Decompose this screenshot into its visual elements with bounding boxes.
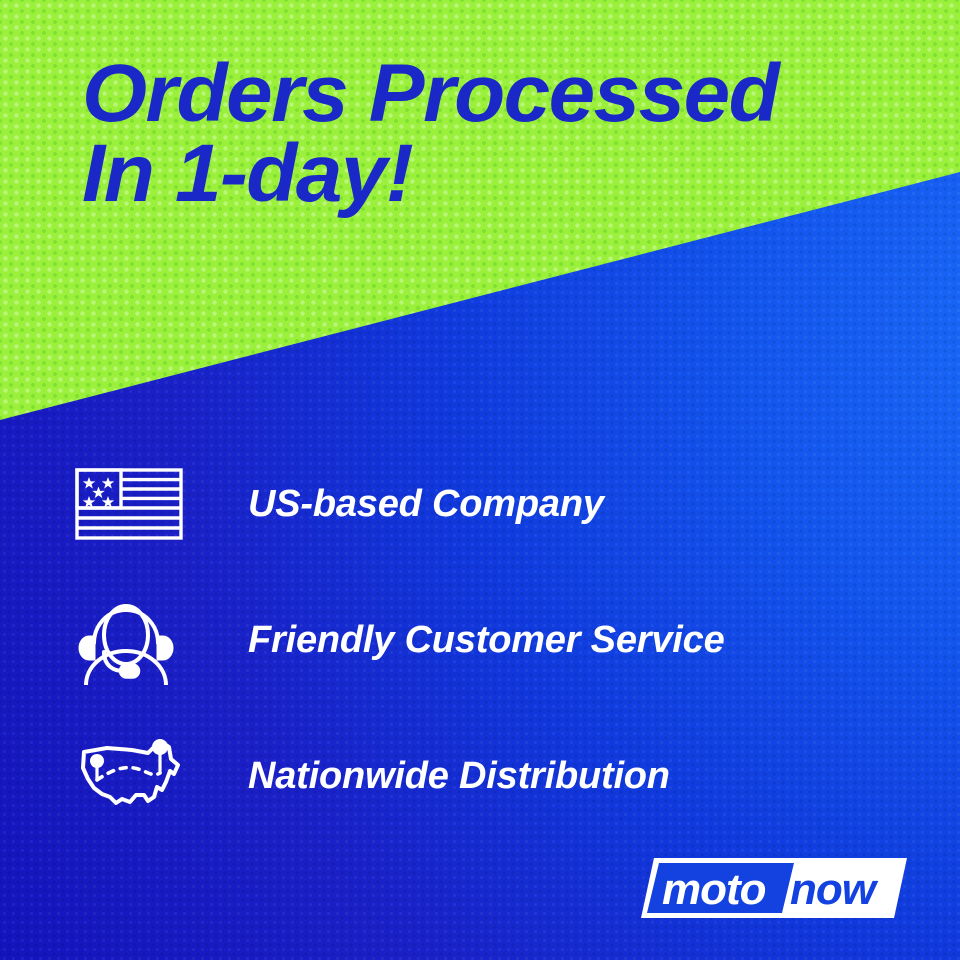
logo-text-moto: moto bbox=[662, 865, 766, 914]
promo-banner: Orders Processed In 1-day! bbox=[0, 0, 960, 960]
list-item: US-based Company bbox=[74, 436, 904, 572]
us-flag-icon bbox=[74, 467, 192, 541]
feature-label: Friendly Customer Service bbox=[248, 619, 725, 662]
feature-list: US-based Company bbox=[74, 436, 904, 844]
feature-label: Nationwide Distribution bbox=[248, 755, 670, 798]
headset-support-icon bbox=[74, 595, 192, 685]
list-item: Friendly Customer Service bbox=[74, 572, 904, 708]
feature-label: US-based Company bbox=[248, 483, 604, 526]
list-item: Nationwide Distribution bbox=[74, 708, 904, 844]
us-map-route-icon bbox=[74, 735, 192, 817]
motonow-logo[interactable]: moto now bbox=[638, 855, 910, 921]
logo-text-now: now bbox=[790, 865, 879, 914]
page-title: Orders Processed In 1-day! bbox=[82, 54, 929, 213]
